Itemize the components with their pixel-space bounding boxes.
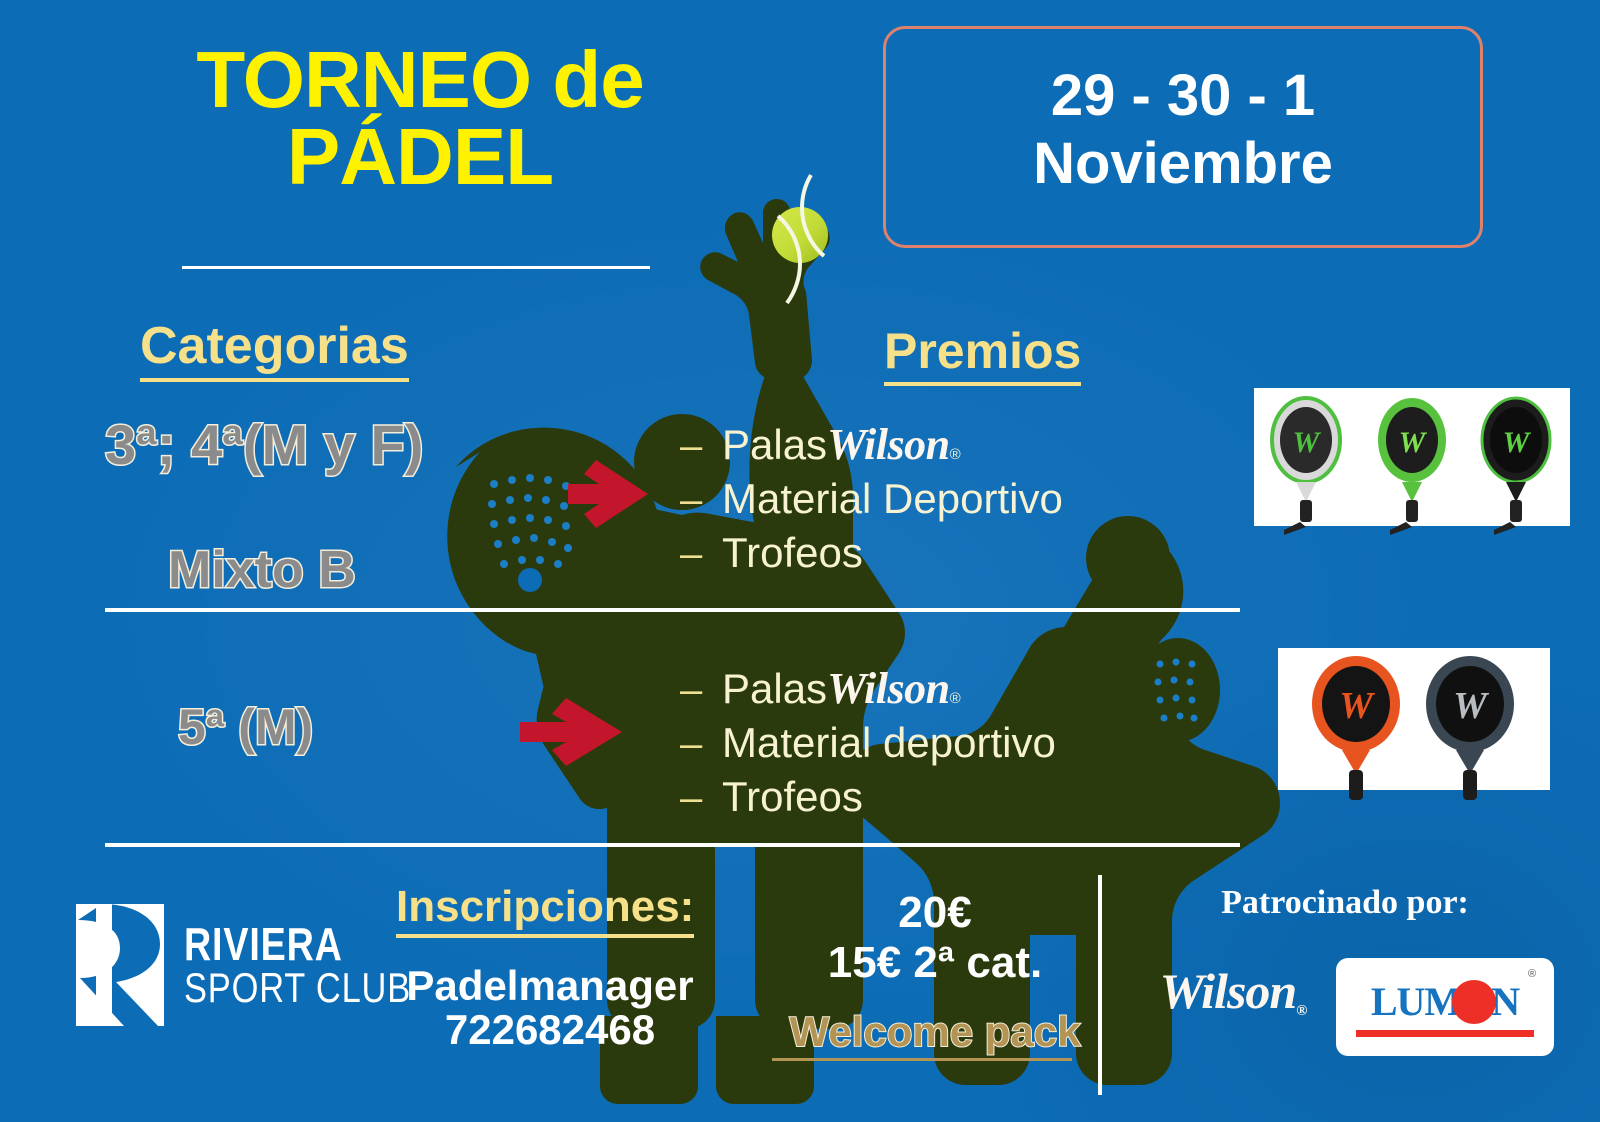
inscripciones-heading: Inscripciones: <box>396 882 694 938</box>
svg-text:W: W <box>1293 426 1322 459</box>
registered-mark: ® <box>950 446 961 463</box>
welcome-pack-underline <box>772 1058 1072 1061</box>
bullet-dash: – <box>680 776 722 821</box>
svg-text:W: W <box>1453 685 1490 727</box>
racket-photo-bottom: W W <box>1278 648 1550 800</box>
prize-list-group-2: – Palas Wilson ® – Material deportivo – … <box>680 662 1056 823</box>
sponsors-heading: Patrocinado por: <box>1110 884 1580 922</box>
premios-heading: Premios <box>884 322 1081 386</box>
prize-item: – Material deportivo <box>680 716 1056 770</box>
prize-item: – Trofeos <box>680 526 1063 580</box>
section-divider-2 <box>105 843 1240 847</box>
prize-label: Material Deportivo <box>722 472 1063 526</box>
bullet-dash: – <box>680 668 722 713</box>
sponsor-wilson-label: Wilson <box>1160 963 1297 1019</box>
racket-photo-top: W W W <box>1254 388 1570 535</box>
registered-mark: ® <box>950 690 961 707</box>
wilson-wordmark: Wilson <box>827 663 950 714</box>
inscripciones-heading-label: Inscripciones: <box>396 882 694 938</box>
prize-label: Trofeos <box>722 770 863 824</box>
svg-text:W: W <box>1503 426 1532 459</box>
racket-string-dots-right <box>1155 659 1198 722</box>
title-divider <box>182 266 650 269</box>
category-item-1: 3ª; 4ª(M y F) <box>105 412 423 477</box>
prize-item: – Palas Wilson ® <box>680 418 1063 472</box>
lumon-red-circle-icon <box>1452 980 1496 1024</box>
prize-label: Trofeos <box>722 526 863 580</box>
prize-label: Palas <box>722 418 827 472</box>
categorias-heading-label: Categorias <box>140 316 409 382</box>
date-text: 29 - 30 - 1 Noviembre <box>883 62 1483 199</box>
arrow-right-icon-bottom <box>520 698 622 766</box>
svg-text:W: W <box>1399 426 1428 459</box>
prize-item: – Trofeos <box>680 770 1056 824</box>
riviera-r-mark <box>72 900 168 1030</box>
section-divider-1 <box>105 608 1240 612</box>
lumon-underline-bar <box>1356 1030 1534 1037</box>
registered-mark: ® <box>1296 1003 1306 1019</box>
welcome-pack-label: Welcome pack <box>760 1008 1110 1056</box>
prize-list-group-1: – Palas Wilson ® – Material Deportivo – … <box>680 418 1063 579</box>
lumon-registered-mark: ® <box>1528 968 1536 980</box>
registration-platform: Padelmanager <box>330 962 770 1010</box>
price-main: 20€ <box>790 888 1080 938</box>
prize-label: Material deportivo <box>722 716 1056 770</box>
page-title: TORNEO de PÁDEL <box>110 42 730 196</box>
sponsor-lumon-logo: LUMON <box>1352 978 1538 1026</box>
premios-heading-label: Premios <box>884 322 1081 386</box>
sponsor-wilson-logo: Wilson® <box>1138 962 1328 1020</box>
bullet-dash: – <box>680 478 722 523</box>
categorias-heading: Categorias <box>140 316 409 382</box>
prize-item: – Palas Wilson ® <box>680 662 1056 716</box>
bullet-dash: – <box>680 532 722 577</box>
prize-item: – Material Deportivo <box>680 472 1063 526</box>
arrow-right-icon-top <box>568 460 648 528</box>
lumon-wordmark: LUMON <box>1352 978 1538 1026</box>
svg-text:W: W <box>1339 685 1376 727</box>
riviera-name: RIVIERA <box>184 921 411 967</box>
wilson-wordmark: Wilson <box>827 419 950 470</box>
registration-phone: 722682468 <box>330 1006 770 1054</box>
lumon-left-text: LUM <box>1371 979 1461 1024</box>
price-second-category: 15€ 2ª cat. <box>760 938 1110 988</box>
prize-label: Palas <box>722 662 827 716</box>
tennis-ball-icon <box>772 175 828 303</box>
bullet-dash: – <box>680 722 722 767</box>
racket-string-dots <box>488 474 572 568</box>
poster-canvas: W W W <box>0 0 1600 1122</box>
bullet-dash: – <box>680 424 722 469</box>
category-item-2: Mixto B <box>168 540 356 600</box>
category-item-3: 5ª (M) <box>178 698 313 756</box>
